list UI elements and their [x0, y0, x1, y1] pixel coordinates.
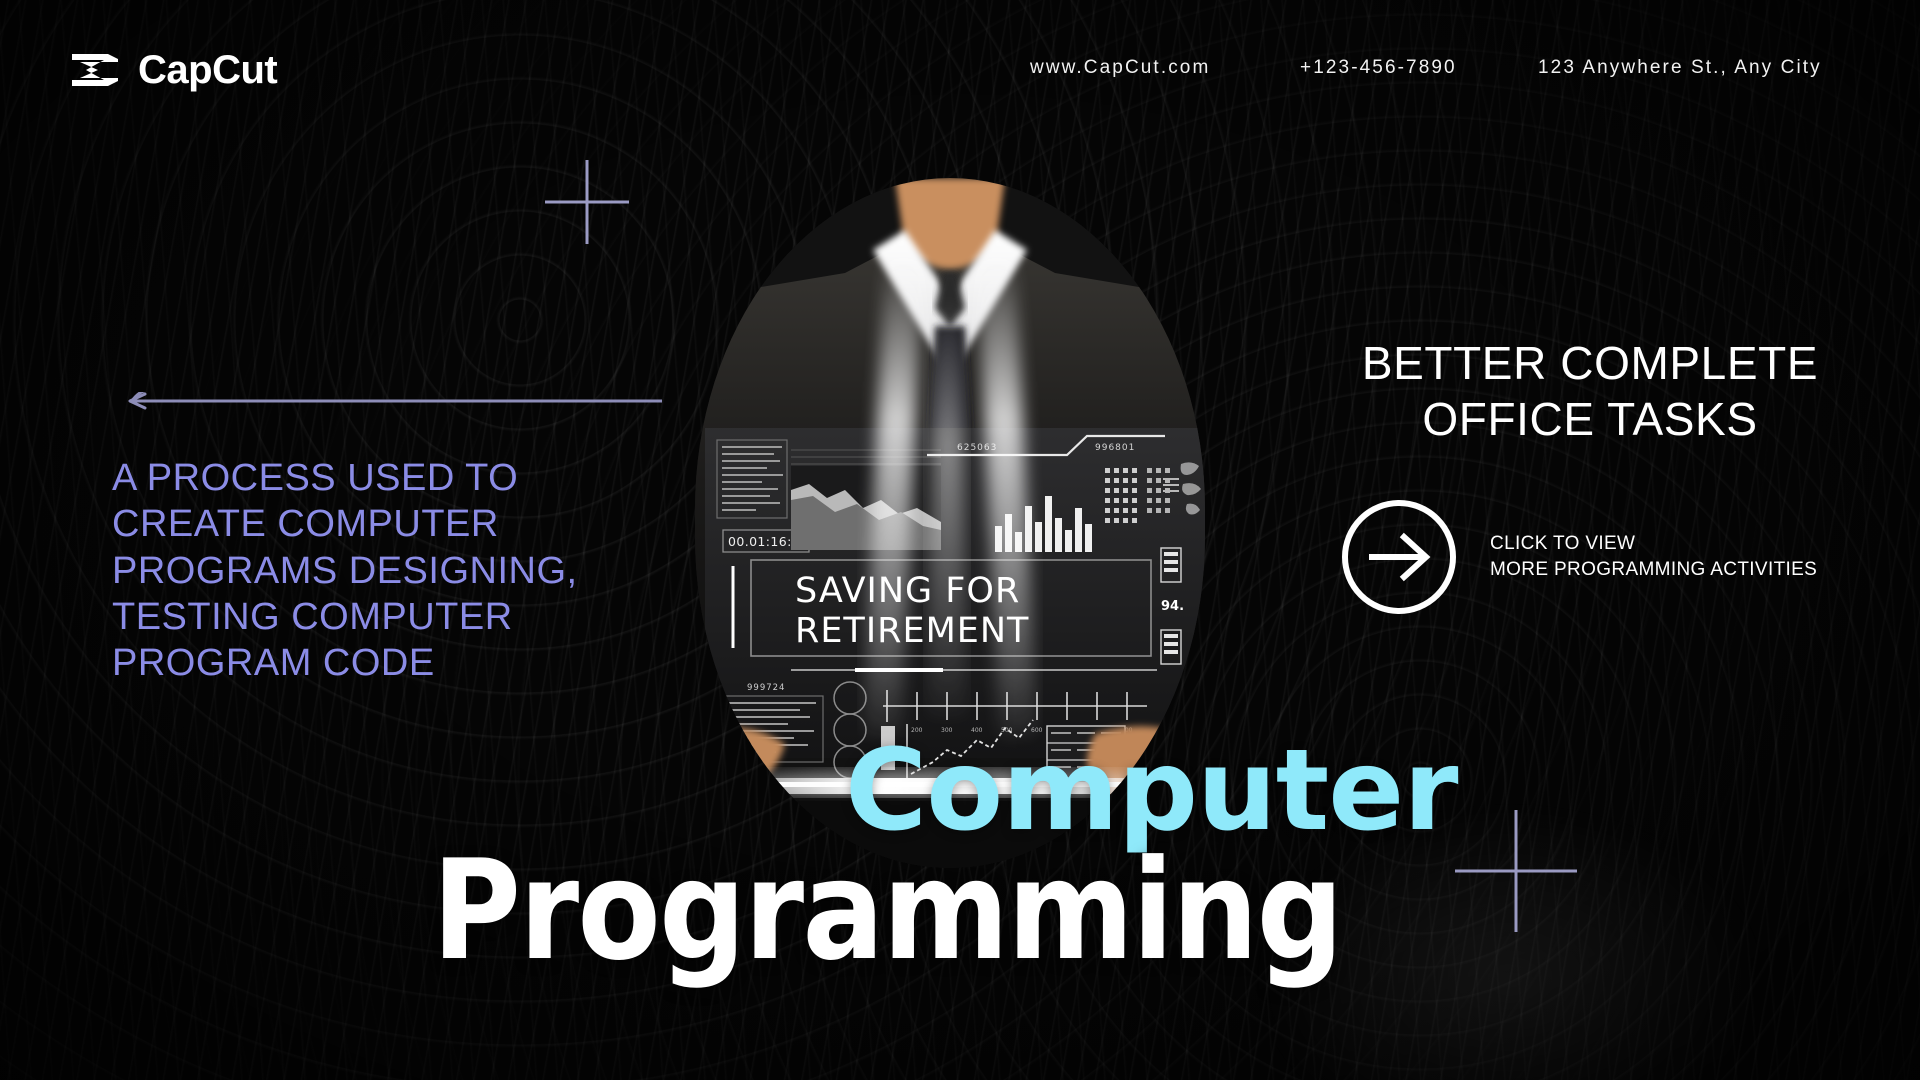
cta-label-line-2: MORE PROGRAMMING ACTIVITIES — [1490, 557, 1817, 583]
svg-text:996801: 996801 — [1095, 443, 1135, 453]
plus-mark-icon-top-left — [545, 160, 629, 244]
plus-mark-icon-bottom-right — [1455, 810, 1577, 932]
right-heading-line-2: OFFICE TASKS — [1300, 391, 1880, 447]
cta-group[interactable]: CLICK TO VIEW MORE PROGRAMMING ACTIVITIE… — [1340, 498, 1817, 616]
arrow-left-icon — [112, 392, 662, 410]
svg-text:94.: 94. — [1161, 599, 1184, 614]
svg-text:999724: 999724 — [747, 683, 785, 693]
poster-canvas: CapCut www.CapCut.com +123-456-7890 123 … — [0, 0, 1920, 1080]
right-heading-line-1: BETTER COMPLETE — [1300, 335, 1880, 391]
header-address: 123 Anywhere St., Any City — [1538, 57, 1822, 79]
header-phone[interactable]: +123-456-7890 — [1300, 57, 1457, 79]
right-heading: BETTER COMPLETE OFFICE TASKS — [1300, 335, 1880, 447]
cta-label-line-1: CLICK TO VIEW — [1490, 531, 1817, 557]
title-main-word: Programming — [432, 842, 1342, 980]
brand-name: CapCut — [138, 50, 277, 90]
page-header: CapCut www.CapCut.com +123-456-7890 123 … — [0, 0, 1920, 140]
arrow-right-circle-icon[interactable] — [1340, 498, 1458, 616]
header-website[interactable]: www.CapCut.com — [1030, 57, 1210, 79]
description-paragraph: A PROCESS USED TO CREATE COMPUTER PROGRA… — [112, 455, 582, 687]
capcut-logo-icon — [68, 51, 124, 89]
cta-label[interactable]: CLICK TO VIEW MORE PROGRAMMING ACTIVITIE… — [1490, 531, 1817, 583]
brand-logo[interactable]: CapCut — [68, 50, 277, 90]
